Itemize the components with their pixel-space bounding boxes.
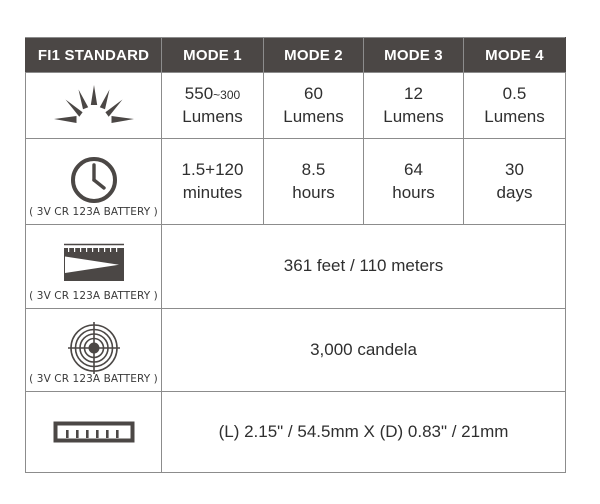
header-mode-2: MODE 2: [264, 38, 364, 73]
table-row-lumens: 550~300 Lumens 60 Lumens 12 Lumens 0.5 L…: [26, 73, 566, 139]
clock-icon: [68, 154, 120, 206]
header-mode-1: MODE 1: [162, 38, 264, 73]
lumens-mode-3-value: 12: [404, 84, 423, 103]
dimensions-icon-cell: [26, 392, 162, 473]
beam-distance-value: 361 feet / 110 meters: [162, 224, 566, 308]
table-row-beam-distance: ( 3V CR 123A BATTERY ) 361 feet / 110 me…: [26, 224, 566, 308]
ruler-icon-wrap: [26, 392, 161, 472]
lumens-mode-1: 550~300 Lumens: [162, 73, 264, 139]
battery-label: ( 3V CR 123A BATTERY ): [26, 290, 161, 302]
target-icon: [65, 321, 123, 375]
table-header: FI1 STANDARD MODE 1 MODE 2 MODE 3 MODE 4: [26, 38, 566, 73]
spec-table-container: FI1 STANDARD MODE 1 MODE 2 MODE 3 MODE 4: [25, 37, 565, 473]
runtime-mode-4-value: 30: [505, 160, 524, 179]
lumens-mode-2: 60 Lumens: [264, 73, 364, 139]
lumens-mode-1-unit: Lumens: [182, 107, 242, 126]
lumens-mode-1-sub: ~300: [213, 88, 240, 102]
runtime-mode-4: 30 days: [464, 139, 566, 225]
peak-beam-intensity-value: 3,000 candela: [162, 308, 566, 392]
table-row-runtime: ( 3V CR 123A BATTERY ) 1.5+120 minutes 8…: [26, 139, 566, 225]
lumens-mode-2-unit: Lumens: [283, 107, 343, 126]
runtime-mode-3-value: 64: [404, 160, 423, 179]
ruler-icon: [53, 417, 135, 447]
lumens-mode-3-unit: Lumens: [383, 107, 443, 126]
runtime-mode-4-unit: days: [497, 183, 533, 202]
header-mode-3: MODE 3: [364, 38, 464, 73]
runtime-mode-1-value: 1.5+120: [182, 160, 244, 179]
runtime-mode-2-value: 8.5: [302, 160, 326, 179]
table-row-dimensions: (L) 2.15" / 54.5mm X (D) 0.83" / 21mm: [26, 392, 566, 473]
runtime-mode-3: 64 hours: [364, 139, 464, 225]
dimensions-value: (L) 2.15" / 54.5mm X (D) 0.83" / 21mm: [162, 392, 566, 473]
sunburst-icon-wrap: [26, 73, 161, 138]
runtime-icon-cell: ( 3V CR 123A BATTERY ): [26, 139, 162, 225]
lumens-mode-4: 0.5 Lumens: [464, 73, 566, 139]
specification-table: FI1 STANDARD MODE 1 MODE 2 MODE 3 MODE 4: [25, 37, 566, 473]
battery-label: ( 3V CR 123A BATTERY ): [26, 373, 161, 385]
runtime-mode-1-unit: minutes: [183, 183, 243, 202]
runtime-mode-2-unit: hours: [292, 183, 335, 202]
battery-label: ( 3V CR 123A BATTERY ): [26, 206, 161, 218]
lumens-icon-cell: [26, 73, 162, 139]
lumens-mode-1-main: 550: [185, 84, 213, 103]
runtime-mode-3-unit: hours: [392, 183, 435, 202]
sunburst-icon: [51, 83, 137, 129]
lumens-mode-3: 12 Lumens: [364, 73, 464, 139]
runtime-mode-1: 1.5+120 minutes: [162, 139, 264, 225]
table-row-peak-beam-intensity: ( 3V CR 123A BATTERY ) 3,000 candela: [26, 308, 566, 392]
header-mode-4: MODE 4: [464, 38, 566, 73]
lumens-mode-2-value: 60: [304, 84, 323, 103]
header-row: FI1 STANDARD MODE 1 MODE 2 MODE 3 MODE 4: [26, 38, 566, 73]
runtime-mode-2: 8.5 hours: [264, 139, 364, 225]
header-standard: FI1 STANDARD: [26, 38, 162, 73]
lumens-mode-4-value: 0.5: [503, 84, 527, 103]
beam-distance-icon: [62, 242, 126, 286]
peak-beam-intensity-icon-cell: ( 3V CR 123A BATTERY ): [26, 308, 162, 392]
lumens-mode-4-unit: Lumens: [484, 107, 544, 126]
table-body: 550~300 Lumens 60 Lumens 12 Lumens 0.5 L…: [26, 73, 566, 473]
beam-distance-icon-cell: ( 3V CR 123A BATTERY ): [26, 224, 162, 308]
